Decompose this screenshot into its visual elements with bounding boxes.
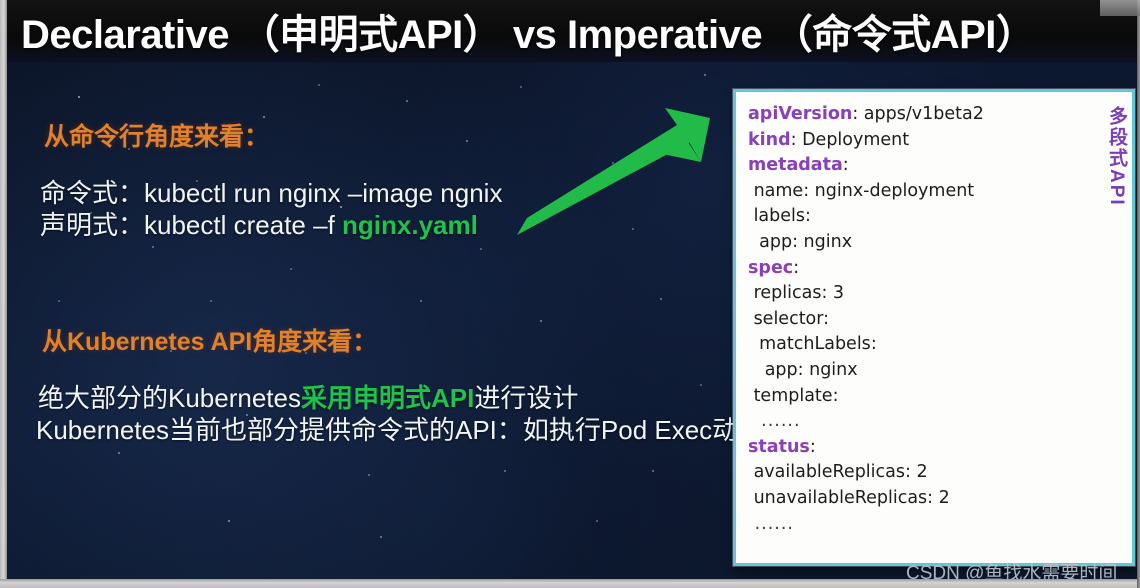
yaml-line: template: xyxy=(748,384,1078,410)
page-title: Declarative （申明式API） vs Imperative （命令式A… xyxy=(21,2,1035,60)
star-speck xyxy=(704,74,706,76)
yaml-key: selector xyxy=(748,309,823,329)
imperative-command: kubectl run nginx –image ngnix xyxy=(144,178,502,208)
yaml-key: app xyxy=(748,232,792,252)
imperative-label: 命令式： xyxy=(40,178,144,208)
yaml-key: status xyxy=(748,437,810,457)
yaml-key: unavailableReplicas xyxy=(748,488,927,508)
star-speck xyxy=(520,86,522,88)
star-speck xyxy=(58,300,60,302)
yaml-line: availableReplicas: 2 xyxy=(748,460,1078,486)
yaml-key: availableReplicas xyxy=(748,462,905,482)
yaml-line: matchLabels: xyxy=(748,332,1078,358)
yaml-line: app: nginx xyxy=(748,230,1078,256)
yaml-value: : xyxy=(793,258,799,278)
declarative-file-highlight: nginx.yaml xyxy=(342,210,478,240)
yaml-line: kind: Deployment xyxy=(748,128,1078,154)
yaml-line: spec: xyxy=(748,256,1078,282)
frame-left-edge xyxy=(0,0,7,588)
k8s-line1-highlight: 采用申明式API xyxy=(301,383,474,413)
yaml-value: : apps/v1beta2 xyxy=(852,104,984,124)
yaml-ellipsis: ...... xyxy=(748,514,794,534)
yaml-value: : xyxy=(871,334,877,354)
declarative-command: kubectl create –f xyxy=(144,210,342,240)
heading-command-line-perspective: 从命令行角度来看： xyxy=(44,117,269,153)
yaml-value: : Deployment xyxy=(791,130,910,150)
yaml-line: apiVersion: apps/v1beta2 xyxy=(748,102,1078,128)
arrow-up-right-icon xyxy=(505,100,720,250)
star-speck xyxy=(652,470,654,472)
slide-canvas: Declarative （申明式API） vs Imperative （命令式A… xyxy=(0,0,1140,588)
yaml-line: name: nginx-deployment xyxy=(748,179,1078,205)
yaml-value: : 3 xyxy=(821,283,844,303)
panel-side-label: 多段式API xyxy=(1107,106,1126,207)
star-speck xyxy=(380,536,382,538)
star-speck xyxy=(210,300,212,302)
k8s-imperative-api-line: Kubernetes当前也部分提供命令式的API：如执行Pod Exec动作 xyxy=(36,410,764,447)
star-speck xyxy=(700,384,702,386)
yaml-key: labels xyxy=(748,206,805,226)
yaml-value: : xyxy=(810,437,816,457)
yaml-value: : nginx xyxy=(798,360,858,380)
declarative-label: 声明式： xyxy=(40,210,144,240)
star-speck xyxy=(228,520,230,522)
yaml-key: metadata xyxy=(748,155,843,175)
star-speck xyxy=(290,268,292,270)
star-speck xyxy=(78,96,80,98)
yaml-key: replicas xyxy=(748,283,821,303)
yaml-value: : nginx xyxy=(792,232,852,252)
star-speck xyxy=(318,84,320,86)
star-speck xyxy=(660,298,662,300)
yaml-value: : 2 xyxy=(905,462,928,482)
yaml-line: replicas: 3 xyxy=(748,281,1078,307)
yaml-line: unavailableReplicas: 2 xyxy=(748,486,1078,512)
yaml-key: spec xyxy=(748,258,793,278)
yaml-key: name xyxy=(748,181,803,201)
yaml-ellipsis: ...... xyxy=(748,411,801,431)
star-speck xyxy=(504,470,506,472)
star-speck xyxy=(152,246,154,248)
yaml-value: : xyxy=(833,386,839,406)
k8s-line1-suffix: 进行设计 xyxy=(474,383,578,413)
yaml-line: app: nginx xyxy=(748,358,1078,384)
star-speck xyxy=(118,452,120,454)
star-speck xyxy=(540,320,542,322)
yaml-value: : xyxy=(805,206,811,226)
yaml-key: kind xyxy=(748,130,791,150)
star-speck xyxy=(368,474,370,476)
heading-kubernetes-api-perspective: 从Kubernetes API角度来看： xyxy=(42,322,377,358)
yaml-manifest-panel: apiVersion: apps/v1beta2kind: Deployment… xyxy=(733,89,1135,566)
yaml-value: : 2 xyxy=(927,488,950,508)
yaml-key: template xyxy=(748,386,833,406)
star-speck xyxy=(406,100,408,102)
frame-top-right-corner xyxy=(1100,0,1140,16)
yaml-key: app xyxy=(748,360,798,380)
title-bar: Declarative （申明式API） vs Imperative （命令式A… xyxy=(7,0,1140,62)
star-speck xyxy=(596,520,598,522)
frame-bottom-edge xyxy=(0,579,1140,588)
star-speck xyxy=(480,248,482,250)
yaml-value: : xyxy=(843,155,849,175)
declarative-command-line: 声明式：kubectl create –f nginx.yaml xyxy=(40,205,478,242)
yaml-line: selector: xyxy=(748,307,1078,333)
yaml-code-block: apiVersion: apps/v1beta2kind: Deployment… xyxy=(748,102,1078,537)
yaml-line: metadata: xyxy=(748,153,1078,179)
yaml-line: status: xyxy=(748,435,1078,461)
star-speck xyxy=(420,300,422,302)
yaml-line: ...... xyxy=(748,409,1078,435)
yaml-line: ...... xyxy=(748,512,1078,538)
yaml-key: matchLabels xyxy=(748,334,871,354)
star-speck xyxy=(466,140,468,142)
yaml-value: : xyxy=(823,309,829,329)
k8s-line1-prefix: 绝大部分的Kubernetes xyxy=(38,383,301,413)
yaml-value: : nginx-deployment xyxy=(803,181,974,201)
yaml-line: labels: xyxy=(748,204,1078,230)
yaml-key: apiVersion xyxy=(748,104,852,124)
